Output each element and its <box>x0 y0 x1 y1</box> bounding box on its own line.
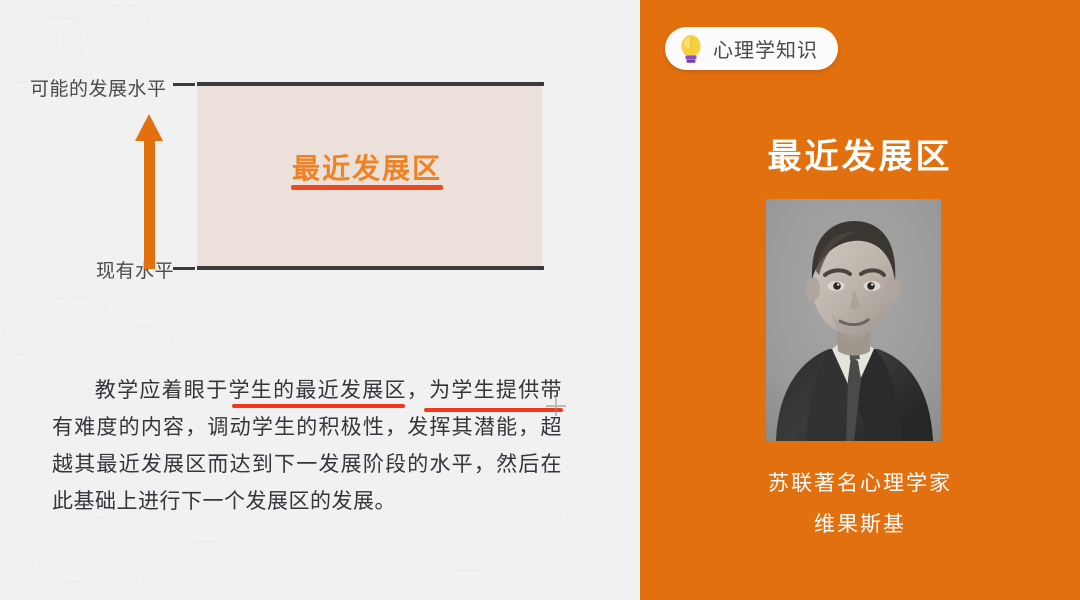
paragraph-highlight-underline-2 <box>424 408 563 412</box>
portrait-caption-line-1: 苏联著名心理学家 <box>640 467 1080 497</box>
arrow-head <box>135 114 163 141</box>
portrait-caption-line-2: 维果斯基 <box>640 508 1080 538</box>
paragraph-text: 教学应着眼于学生的最近发展区，为学生提供带有难度的内容，调动学生的积极性，发挥其… <box>52 379 562 513</box>
left-content-panel: 可能的发展水平 现有水平 最近发展区 教学应着眼于学生的最近发展区，为学生提供带… <box>0 0 640 600</box>
psychology-knowledge-badge-label: 心理学知识 <box>713 34 818 63</box>
current-level-tick <box>173 267 195 270</box>
explanation-paragraph: 教学应着眼于学生的最近发展区，为学生提供带有难度的内容，调动学生的积极性，发挥其… <box>52 372 562 520</box>
paragraph-highlight-underline-1 <box>232 404 405 408</box>
vygotsky-portrait <box>766 199 941 441</box>
zpd-zone-label: 最近发展区 <box>292 147 442 187</box>
slide-canvas: 可能的发展水平 现有水平 最近发展区 教学应着眼于学生的最近发展区，为学生提供带… <box>0 0 1080 600</box>
right-orange-panel: 心理学知识 最近发展区 <box>640 0 1080 600</box>
crosshair-cursor <box>546 396 566 416</box>
portrait-image <box>766 199 941 441</box>
current-level-line <box>197 266 544 270</box>
potential-level-line <box>197 82 544 86</box>
zpd-zone-label-underline <box>291 185 443 190</box>
psychology-knowledge-badge[interactable]: 心理学知识 <box>665 27 838 70</box>
upward-arrow-icon <box>131 114 167 269</box>
potential-level-tick <box>173 83 195 86</box>
panel-title: 最近发展区 <box>640 129 1080 178</box>
lightbulb-icon <box>677 34 705 64</box>
zpd-diagram: 可能的发展水平 现有水平 最近发展区 <box>0 0 640 330</box>
potential-level-label: 可能的发展水平 <box>30 74 167 101</box>
arrow-shaft <box>144 138 155 269</box>
